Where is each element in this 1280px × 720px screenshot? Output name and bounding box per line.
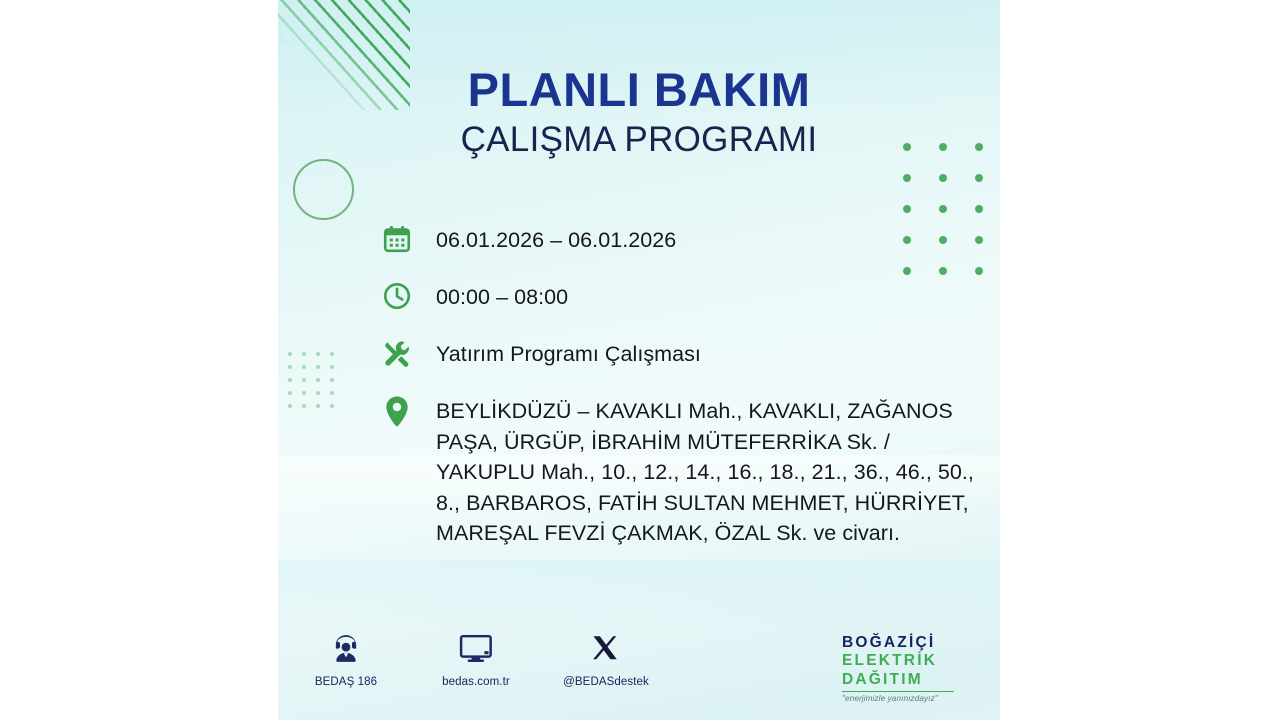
page-title: PLANLI BAKIM <box>278 66 1000 113</box>
tools-icon <box>380 336 414 370</box>
contact-x-label: @BEDASdestek <box>560 676 652 688</box>
contact-website-label: bedas.com.tr <box>430 676 522 688</box>
contact-phone[interactable]: BEDAŞ 186 <box>300 630 392 688</box>
monitor-website-icon <box>430 630 522 668</box>
background-wash-lower <box>278 560 1000 630</box>
brand-line-2: ELEKTRİK <box>842 652 992 670</box>
calendar-icon <box>380 222 414 256</box>
bedas-logo: BOĞAZİÇİ ELEKTRİK DAĞITIM "enerjimizle y… <box>842 634 992 703</box>
dot-grid-left-decoration <box>288 352 344 417</box>
circle-outline-decoration <box>293 159 354 220</box>
map-pin-icon <box>380 393 414 429</box>
outage-details: 06.01.2026 – 06.01.2026 00:00 – 08:00 <box>380 222 980 549</box>
headset-support-icon <box>300 630 392 668</box>
poster-footer: BEDAŞ 186 bedas.com.tr <box>278 630 1000 720</box>
work-type-text: Yatırım Programı Çalışması <box>436 336 701 370</box>
brand-tagline: "enerjimizle yanınızdayız" <box>842 694 992 703</box>
contact-x-twitter[interactable]: @BEDASdestek <box>560 630 652 688</box>
detail-row-work-type: Yatırım Programı Çalışması <box>380 336 980 370</box>
brand-line-3: DAĞITIM <box>842 671 992 689</box>
detail-row-time: 00:00 – 08:00 <box>380 279 980 313</box>
time-range-text: 00:00 – 08:00 <box>436 279 568 313</box>
contact-website[interactable]: bedas.com.tr <box>430 630 522 688</box>
clock-icon <box>380 279 414 313</box>
announcement-card: PLANLI BAKIM ÇALIŞMA PROGRAMI <box>278 0 1000 720</box>
date-range-text: 06.01.2026 – 06.01.2026 <box>436 222 676 256</box>
page-subtitle: ÇALIŞMA PROGRAMI <box>278 122 1000 157</box>
poster-heading: PLANLI BAKIM ÇALIŞMA PROGRAMI <box>278 66 1000 157</box>
x-twitter-icon <box>560 630 652 668</box>
brand-line-1: BOĞAZİÇİ <box>842 634 992 652</box>
contact-phone-label: BEDAŞ 186 <box>300 676 392 688</box>
poster-canvas: PLANLI BAKIM ÇALIŞMA PROGRAMI <box>0 0 1280 720</box>
brand-underline <box>842 691 954 693</box>
detail-row-date: 06.01.2026 – 06.01.2026 <box>380 222 980 256</box>
contact-channels: BEDAŞ 186 bedas.com.tr <box>300 630 652 688</box>
detail-row-location: BEYLİKDÜZÜ – KAVAKLI Mah., KAVAKLI, ZAĞA… <box>380 393 980 549</box>
location-text: BEYLİKDÜZÜ – KAVAKLI Mah., KAVAKLI, ZAĞA… <box>436 393 980 549</box>
